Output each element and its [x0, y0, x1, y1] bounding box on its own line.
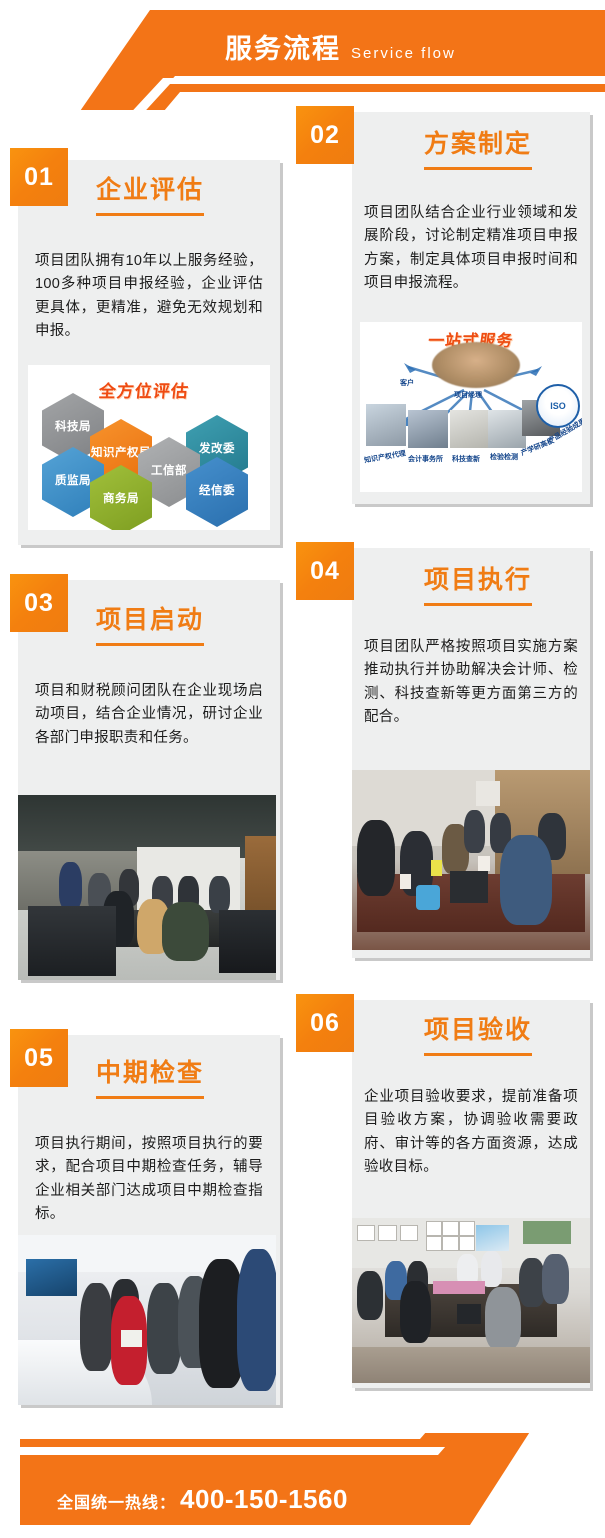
photo-large-meeting: [352, 1218, 590, 1383]
step-number-badge: 02: [296, 106, 354, 164]
card-body-text: 项目和财税顾问团队在企业现场启动项目，结合企业情况，研讨企业各部门申报职责和任务…: [35, 680, 263, 750]
step-card-03[interactable]: 03 项目启动 项目和财税顾问团队在企业现场启动项目，结合企业情况，研讨企业各部…: [18, 580, 280, 980]
one-stop-center-photo: [432, 342, 520, 388]
one-stop-node-2: 科技查新: [452, 454, 480, 464]
service-flow-page: 服务流程 Service flow 01 企业评估 项目团队拥有10年以上服务经…: [0, 0, 605, 1538]
footer-hotline-number: 400-150-1560: [180, 1484, 348, 1515]
step-number-badge: 06: [296, 994, 354, 1052]
card-body-text: 项目团队严格按照项目实施方案推动执行并协助解决会计师、检测、科技查新等更方面第三…: [364, 636, 578, 730]
card-body-text: 项目团队拥有10年以上服务经验，100多种项目申报经验，企业评估更具体，更精准，…: [35, 250, 263, 344]
header-title-group: 服务流程 Service flow: [225, 36, 456, 63]
photo-conference-room: [18, 795, 276, 980]
one-stop-client-label: 客户: [400, 378, 414, 388]
photo-showroom-visit: [18, 1235, 276, 1405]
step-card-04[interactable]: 04 项目执行 项目团队严格按照项目实施方案推动执行并协助解决会计师、检测、科技…: [352, 548, 590, 958]
step-number-badge: 03: [10, 574, 68, 632]
header-title-en: Service flow: [351, 46, 456, 61]
card-title: 企业评估: [96, 170, 204, 216]
one-stop-node-1: 会计事务所: [408, 454, 443, 464]
one-stop-thumb-2: [450, 410, 488, 448]
card-body-text: 项目执行期间，按照项目执行的要求，配合项目中期检查任务，辅导企业相关部门达成项目…: [35, 1133, 263, 1227]
card-body-text: 项目团队结合企业行业领域和发展阶段，讨论制定精准项目申报方案，制定具体项目申报时…: [364, 202, 578, 296]
footer-hotline-label: 全国统一热线：: [57, 1489, 176, 1513]
hex-evaluation-diagram: 全方位评估 科技局 知识产权局 发改委 质监局 工信部 经信委 商务局: [28, 365, 270, 530]
step-number-badge: 04: [296, 542, 354, 600]
one-stop-thumb-3: [488, 410, 526, 448]
one-stop-node-3: 检验检测: [490, 452, 518, 462]
card-title: 方案制定: [424, 124, 532, 170]
step-card-06[interactable]: 06 项目验收 企业项目验收要求，提前准备项目验收方案，协调验收需要政府、审计等…: [352, 1000, 590, 1388]
step-card-01[interactable]: 01 企业评估 项目团队拥有10年以上服务经验，100多种项目申报经验，企业评估…: [18, 160, 280, 545]
step-number-badge: 01: [10, 148, 68, 206]
header-title-cn: 服务流程: [225, 36, 341, 63]
footer-hotline-group: 全国统一热线： 400-150-1560: [57, 1484, 348, 1515]
step-number-badge: 05: [10, 1029, 68, 1087]
one-stop-thumb-1: [408, 410, 448, 448]
card-title: 项目执行: [424, 560, 532, 606]
step-card-05[interactable]: 05 中期检查 项目执行期间，按照项目执行的要求，配合项目中期检查任务，辅导企业…: [18, 1035, 280, 1405]
photo-meeting-table: [352, 770, 590, 950]
card-title: 项目验收: [424, 1010, 532, 1056]
step-card-02[interactable]: 02 方案制定 项目团队结合企业行业领域和发展阶段，讨论制定精准项目申报方案，制…: [352, 112, 590, 504]
page-footer: 全国统一热线： 400-150-1560: [0, 1433, 605, 1538]
page-header: 服务流程 Service flow: [0, 0, 605, 100]
card-title: 中期检查: [96, 1053, 204, 1099]
hex-diagram-title: 全方位评估: [98, 377, 191, 402]
one-stop-thumb-0: [366, 404, 406, 446]
one-stop-service-diagram: 一站式服务: [360, 322, 582, 492]
card-body-text: 企业项目验收要求，提前准备项目验收方案，协调验收需要政府、审计等的各方面资源，达…: [364, 1086, 578, 1180]
card-title: 项目启动: [96, 600, 204, 646]
one-stop-center-label: 项目经理: [454, 390, 482, 400]
